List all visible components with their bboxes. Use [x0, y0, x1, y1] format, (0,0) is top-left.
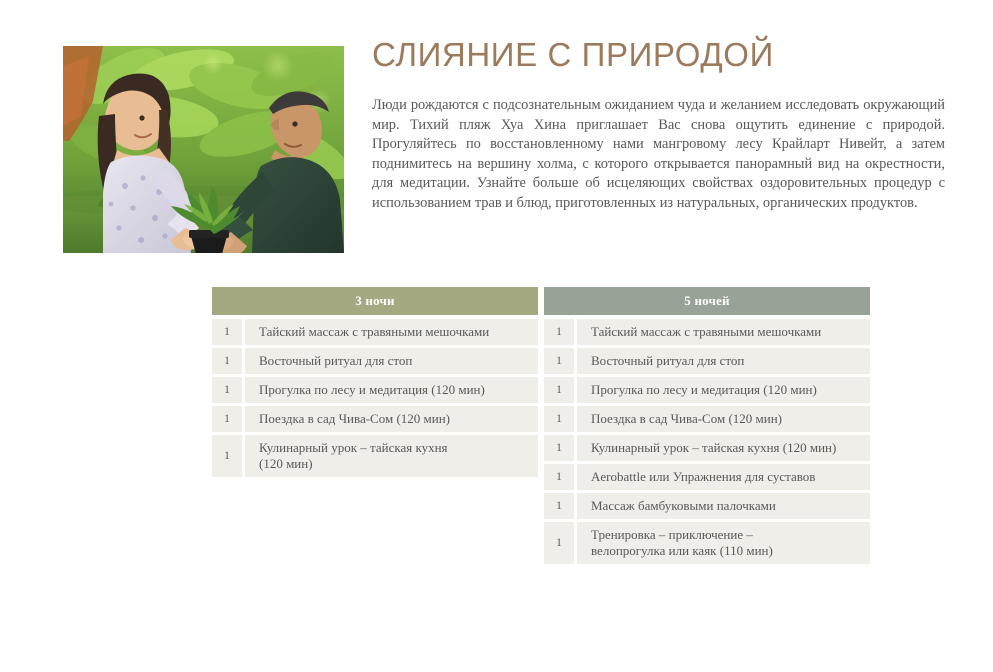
table-row: 1Поездка в сад Чива-Сом (120 мин) — [212, 406, 538, 432]
row-label: Восточный ритуал для стоп — [577, 348, 870, 374]
hero-photo — [63, 46, 344, 253]
row-label-line: Тайский массаж с травяными мешочками — [591, 324, 821, 340]
row-quantity: 1 — [544, 319, 574, 345]
page-root: СЛИЯНИЕ С ПРИРОДОЙ Люди рождаются с подс… — [0, 0, 993, 672]
row-label-line: Тайский массаж с травяными мешочками — [259, 324, 489, 340]
row-label-line: Прогулка по лесу и медитация (120 мин) — [259, 382, 485, 398]
row-label-line: Восточный ритуал для стоп — [591, 353, 744, 369]
table-row: 1Тайский массаж с травяными мешочками — [212, 319, 538, 345]
row-label-line: (120 мин) — [259, 456, 448, 472]
row-quantity: 1 — [544, 377, 574, 403]
package-header-5-nights: 5 ночей — [544, 287, 870, 315]
hero-body-text: Люди рождаются с подсознательным ожидани… — [372, 96, 945, 214]
table-row: 1Поездка в сад Чива-Сом (120 мин) — [544, 406, 870, 432]
garden-photo-illustration — [63, 46, 344, 253]
row-label-line: Прогулка по лесу и медитация (120 мин) — [591, 382, 817, 398]
row-quantity: 1 — [212, 377, 242, 403]
row-label: Тренировка – приключение –велопрогулка и… — [577, 522, 870, 564]
row-label: Массаж бамбуковыми палочками — [577, 493, 870, 519]
package-rows-3-nights: 1Тайский массаж с травяными мешочками1Во… — [212, 319, 538, 477]
table-row: 1Восточный ритуал для стоп — [212, 348, 538, 374]
package-rows-5-nights: 1Тайский массаж с травяными мешочками1Во… — [544, 319, 870, 564]
table-row: 1Прогулка по лесу и медитация (120 мин) — [544, 377, 870, 403]
row-label: Тайский массаж с травяными мешочками — [245, 319, 538, 345]
hero-text-block: СЛИЯНИЕ С ПРИРОДОЙ Люди рождаются с подс… — [372, 36, 945, 214]
row-label-line: Массаж бамбуковыми палочками — [591, 498, 776, 514]
row-label: Поездка в сад Чива-Сом (120 мин) — [245, 406, 538, 432]
table-row: 1Aerobattle или Упражнения для суставов — [544, 464, 870, 490]
row-label-line: велопрогулка или каяк (110 мин) — [591, 543, 773, 559]
table-row: 1Кулинарный урок – тайская кухня(120 мин… — [212, 435, 538, 477]
row-label: Прогулка по лесу и медитация (120 мин) — [245, 377, 538, 403]
page-title: СЛИЯНИЕ С ПРИРОДОЙ — [372, 36, 945, 74]
row-label: Кулинарный урок – тайская кухня(120 мин) — [245, 435, 538, 477]
row-quantity: 1 — [544, 406, 574, 432]
row-quantity: 1 — [544, 435, 574, 461]
row-quantity: 1 — [544, 348, 574, 374]
row-quantity: 1 — [212, 406, 242, 432]
row-quantity: 1 — [544, 522, 574, 564]
row-label-line: Кулинарный урок – тайская кухня (120 мин… — [591, 440, 836, 456]
row-quantity: 1 — [544, 493, 574, 519]
row-label-line: Поездка в сад Чива-Сом (120 мин) — [591, 411, 782, 427]
table-row: 1Тайский массаж с травяными мешочками — [544, 319, 870, 345]
row-label-line: Тренировка – приключение – — [591, 527, 773, 543]
row-label: Поездка в сад Чива-Сом (120 мин) — [577, 406, 870, 432]
row-label-line: Поездка в сад Чива-Сом (120 мин) — [259, 411, 450, 427]
row-label-line: Восточный ритуал для стоп — [259, 353, 412, 369]
row-label: Тайский массаж с травяными мешочками — [577, 319, 870, 345]
row-quantity: 1 — [212, 348, 242, 374]
row-label: Прогулка по лесу и медитация (120 мин) — [577, 377, 870, 403]
row-label-line: Aerobattle или Упражнения для суставов — [591, 469, 815, 485]
table-row: 1Восточный ритуал для стоп — [544, 348, 870, 374]
table-row: 1Тренировка – приключение –велопрогулка … — [544, 522, 870, 564]
row-quantity: 1 — [212, 435, 242, 477]
package-header-3-nights: 3 ночи — [212, 287, 538, 315]
package-5-nights: 5 ночей 1Тайский массаж с травяными мешо… — [544, 287, 870, 567]
row-label: Aerobattle или Упражнения для суставов — [577, 464, 870, 490]
row-label: Кулинарный урок – тайская кухня (120 мин… — [577, 435, 870, 461]
table-row: 1Кулинарный урок – тайская кухня (120 ми… — [544, 435, 870, 461]
row-quantity: 1 — [544, 464, 574, 490]
row-label-line: Кулинарный урок – тайская кухня — [259, 440, 448, 456]
table-row: 1Массаж бамбуковыми палочками — [544, 493, 870, 519]
table-row: 1Прогулка по лесу и медитация (120 мин) — [212, 377, 538, 403]
row-quantity: 1 — [212, 319, 242, 345]
package-3-nights: 3 ночи 1Тайский массаж с травяными мешоч… — [212, 287, 538, 480]
row-label: Восточный ритуал для стоп — [245, 348, 538, 374]
